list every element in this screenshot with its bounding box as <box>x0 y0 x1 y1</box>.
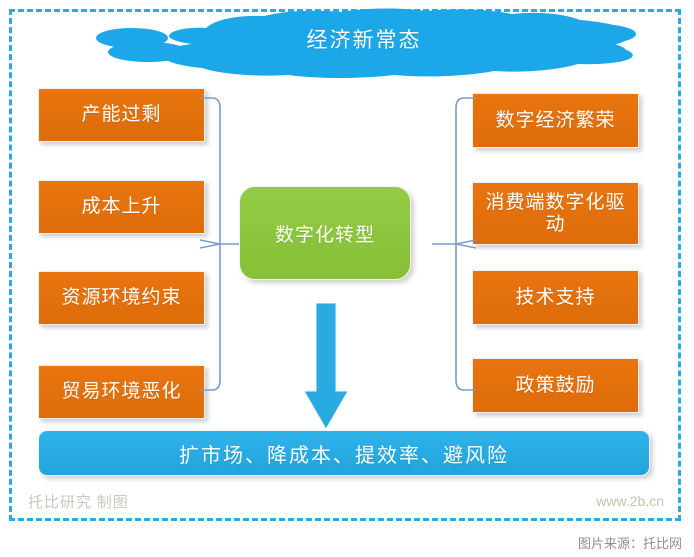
left-factor-box-1[interactable]: 产能过剩 <box>38 88 205 142</box>
cloud-title: 经济新常态 <box>88 24 640 54</box>
right-factor-label-1: 数字经济繁荣 <box>495 110 615 132</box>
left-factor-label-2: 成本上升 <box>81 196 161 218</box>
right-factor-box-1[interactable]: 数字经济繁荣 <box>472 93 639 148</box>
left-factor-box-3[interactable]: 资源环境约束 <box>38 271 205 325</box>
center-concept-label: 数字化转型 <box>275 220 375 247</box>
footer-url[interactable]: www.2b.cn <box>596 493 664 509</box>
left-factor-label-4: 贸易环境恶化 <box>61 381 181 403</box>
right-factor-box-2[interactable]: 消费端数字化驱动 <box>472 182 639 245</box>
down-arrow-icon <box>303 303 349 431</box>
left-factor-label-1: 产能过剩 <box>81 104 161 126</box>
right-factor-label-2: 消费端数字化驱动 <box>483 192 628 236</box>
footer-credit: 托比研究 制图 <box>28 491 129 512</box>
outcome-banner[interactable]: 扩市场、降成本、提效率、避风险 <box>38 430 650 476</box>
right-factor-box-4[interactable]: 政策鼓励 <box>472 358 639 413</box>
left-factor-box-2[interactable]: 成本上升 <box>38 180 205 234</box>
right-factor-label-4: 政策鼓励 <box>515 375 595 397</box>
outcome-banner-label: 扩市场、降成本、提效率、避风险 <box>179 439 509 468</box>
left-factor-box-4[interactable]: 贸易环境恶化 <box>38 365 205 419</box>
right-factor-label-3: 技术支持 <box>515 287 595 309</box>
right-factor-box-3[interactable]: 技术支持 <box>472 270 639 325</box>
image-source-note: 图片来源：托比网 <box>578 533 682 552</box>
diagram-canvas: 经济新常态 产能过剩 成本上升 资源环境约束 贸易环境恶化 数字经济繁荣 消费端… <box>0 0 694 557</box>
center-concept-box[interactable]: 数字化转型 <box>239 186 411 280</box>
left-factor-label-3: 资源环境约束 <box>61 287 181 309</box>
